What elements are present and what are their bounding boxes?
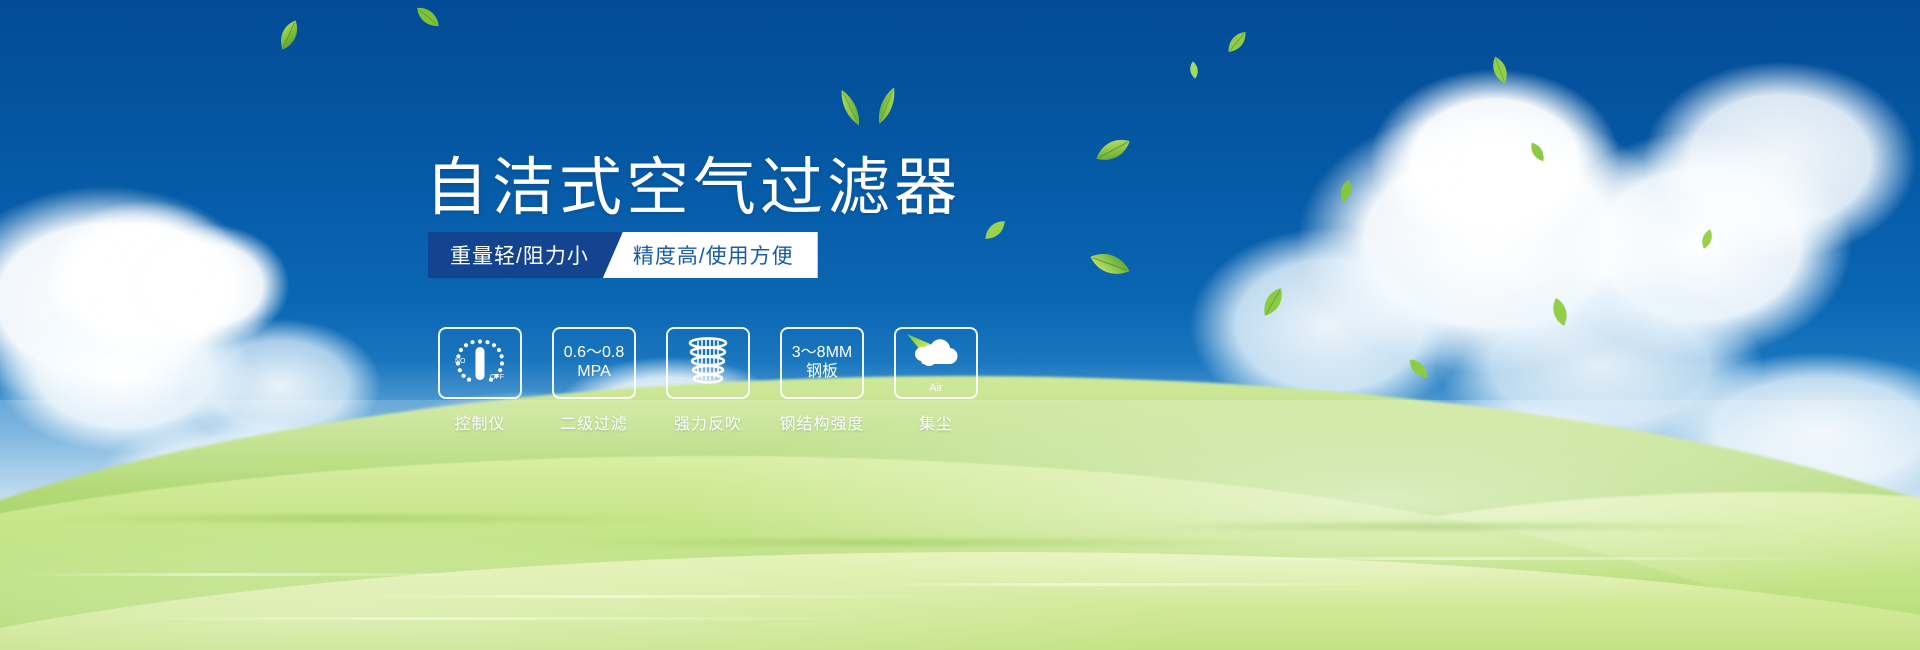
feature-icon-box: NO OFF	[438, 327, 522, 399]
feature-item-steel-strength[interactable]: 3～8MM 钢板 钢结构强度	[780, 327, 864, 434]
pressure-text-icon-line1: 0.6～0.8	[564, 344, 625, 363]
feature-icon-box	[666, 327, 750, 399]
title-leaf-left-icon	[834, 86, 867, 129]
gauge-label-no: NO	[455, 358, 466, 365]
coil-filter-icon	[681, 334, 735, 393]
steel-plate-text-icon-line1: 3～8MM	[792, 344, 852, 363]
feature-item-dust-collection[interactable]: Air 集尘	[894, 327, 978, 434]
feature-icon-list: NO OFF 控制仪 0.6～0.8 MPA 二级过滤	[438, 327, 978, 434]
feature-label: 强力反吹	[674, 410, 742, 434]
cloud-air-icon	[905, 332, 967, 381]
banner-content: 自洁式空气过滤器 重量轻/阻力小 精度高/使用方便	[0, 0, 1920, 650]
page-title: 自洁式空气过滤器	[425, 157, 961, 220]
feature-item-two-stage-filter[interactable]: 0.6～0.8 MPA 二级过滤	[552, 327, 636, 434]
feature-tabs: 重量轻/阻力小 精度高/使用方便	[428, 232, 818, 278]
feature-icon-box: Air	[894, 327, 978, 399]
feature-item-strong-blowback[interactable]: 强力反吹	[666, 327, 750, 434]
cloud-air-caption: Air	[929, 383, 942, 394]
steel-plate-text-icon-line2: 钢板	[806, 363, 838, 382]
feature-item-controller[interactable]: NO OFF 控制仪	[438, 327, 522, 434]
gauge-icon: NO OFF	[449, 334, 511, 393]
pressure-text-icon-line2: MPA	[577, 363, 610, 382]
feature-icon-box: 0.6～0.8 MPA	[552, 327, 636, 399]
feature-icon-box: 3～8MM 钢板	[780, 327, 864, 399]
feature-label: 钢结构强度	[780, 410, 865, 434]
feature-label: 集尘	[919, 410, 953, 434]
product-banner: 自洁式空气过滤器 重量轻/阻力小 精度高/使用方便	[0, 0, 1920, 650]
gauge-label-off: OFF	[490, 374, 504, 381]
feature-label: 二级过滤	[560, 410, 628, 434]
tab-precision-easyuse[interactable]: 精度高/使用方便	[603, 232, 818, 278]
feature-label: 控制仪	[454, 410, 505, 434]
title-leaf-right-icon	[871, 84, 902, 127]
tab-lightweight-lowresistance[interactable]: 重量轻/阻力小	[428, 232, 621, 278]
